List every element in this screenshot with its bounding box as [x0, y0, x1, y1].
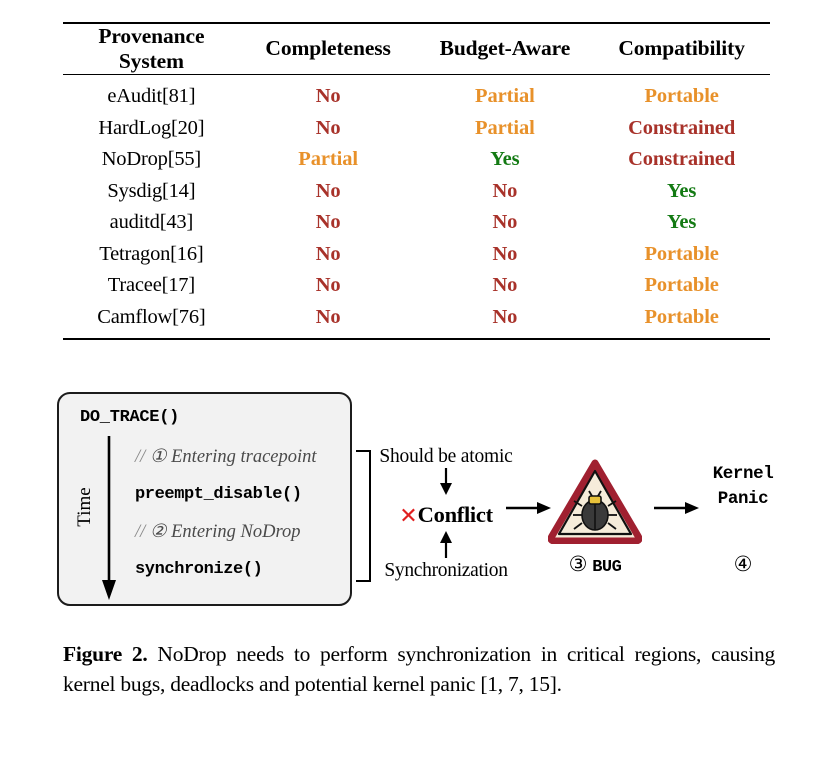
comment-text-2: // ② Entering NoDrop	[135, 522, 300, 542]
code-box: DO_TRACE() Time // ① Entering tracepoint…	[57, 392, 352, 606]
cell-compatibility: Yes	[593, 207, 770, 239]
cell-budget-aware: Partial	[417, 75, 594, 113]
cell-budget-aware: No	[417, 270, 594, 302]
x-mark-icon: ✕	[399, 504, 417, 529]
figure-label: Figure 2.	[63, 642, 148, 666]
table-header-row: Provenance System Completeness Budget-Aw…	[63, 24, 770, 74]
cell-completeness: No	[240, 270, 417, 302]
header-line-2: System	[119, 49, 184, 73]
column-header-compatibility: Compatibility	[593, 24, 770, 74]
cell-completeness: No	[240, 207, 417, 239]
column-header-budget-aware: Budget-Aware	[417, 24, 594, 74]
code-line-comment-2: // ② Entering NoDrop	[135, 521, 300, 543]
cell-completeness: No	[240, 75, 417, 113]
arrow-right-icon-conflict-to-bug	[506, 500, 552, 521]
synchronization-label: Synchronization	[372, 560, 520, 582]
cell-system: HardLog[20]	[63, 112, 240, 144]
step-marker-3: ③	[569, 552, 588, 576]
figure-caption: Figure 2. NoDrop needs to perform synchr…	[63, 640, 775, 699]
cell-compatibility: Yes	[593, 175, 770, 207]
cell-completeness: No	[240, 112, 417, 144]
table-row: Tetragon[16] No No Portable	[63, 238, 770, 270]
code-box-title: DO_TRACE()	[80, 408, 179, 427]
cell-budget-aware: No	[417, 175, 594, 207]
step-marker-4: ④	[678, 552, 808, 576]
comparison-table: Provenance System Completeness Budget-Aw…	[63, 22, 770, 340]
kernel-panic-label: Kernel Panic	[678, 462, 808, 513]
cell-completeness: No	[240, 238, 417, 270]
step-marker-1: ①	[150, 447, 167, 467]
cell-compatibility: Portable	[593, 238, 770, 270]
grouping-bracket	[356, 450, 371, 582]
table-bottom-rule	[63, 339, 770, 340]
figure-caption-text: NoDrop needs to perform synchronization …	[63, 642, 775, 696]
cell-compatibility: Constrained	[593, 112, 770, 144]
arrow-up-icon	[372, 530, 520, 563]
cell-budget-aware: No	[417, 238, 594, 270]
cell-compatibility: Portable	[593, 301, 770, 339]
table-row: NoDrop[55] Partial Yes Constrained	[63, 144, 770, 176]
conflict-label: Conflict	[418, 502, 493, 527]
cell-completeness: Partial	[240, 144, 417, 176]
table-row: Sysdig[14] No No Yes	[63, 175, 770, 207]
cell-system: Camflow[76]	[63, 301, 240, 339]
cell-budget-aware: No	[417, 207, 594, 239]
cell-system: auditd[43]	[63, 207, 240, 239]
arrow-down-icon	[372, 468, 520, 501]
comment-slashes: //	[135, 522, 145, 542]
function-call-preempt-disable: preempt_disable()	[135, 485, 302, 504]
cell-system: NoDrop[55]	[63, 144, 240, 176]
comment-body-1: Entering tracepoint	[171, 447, 316, 467]
bug-label: BUG	[592, 558, 621, 577]
code-line-call-1: preempt_disable()	[135, 483, 302, 504]
comment-body-2: Entering NoDrop	[171, 522, 300, 542]
time-axis: Time	[71, 436, 123, 602]
table-row: eAudit[81] No Partial Portable	[63, 75, 770, 113]
table-row: HardLog[20] No Partial Constrained	[63, 112, 770, 144]
figure-diagram: DO_TRACE() Time // ① Entering tracepoint…	[0, 388, 832, 618]
cell-system: Tetragon[16]	[63, 238, 240, 270]
conflict-label-row: ✕Conflict	[372, 502, 520, 529]
column-header-completeness: Completeness	[240, 24, 417, 74]
time-axis-label: Time	[74, 476, 96, 538]
cell-system: Sysdig[14]	[63, 175, 240, 207]
code-line-comment-1: // ① Entering tracepoint	[135, 446, 317, 468]
cell-compatibility: Portable	[593, 270, 770, 302]
cell-system: Tracee[17]	[63, 270, 240, 302]
warning-triangle-icon	[548, 458, 642, 544]
cell-completeness: No	[240, 301, 417, 339]
cell-budget-aware: No	[417, 301, 594, 339]
column-header-provenance-system: Provenance System	[63, 24, 240, 74]
kernel-panic-line-1: Kernel	[678, 462, 808, 487]
bug-caption: ③ BUG	[540, 552, 650, 577]
conflict-group: Should be atomic ✕Conflict Synchronizati…	[372, 446, 520, 586]
cell-completeness: No	[240, 175, 417, 207]
comment-text-1: // ① Entering tracepoint	[135, 447, 317, 467]
cell-compatibility: Portable	[593, 75, 770, 113]
table-row: Camflow[76] No No Portable	[63, 301, 770, 339]
should-be-atomic-label: Should be atomic	[372, 446, 520, 468]
kernel-panic-line-2: Panic	[678, 487, 808, 512]
function-call-synchronize: synchronize()	[135, 560, 262, 579]
table-row: Tracee[17] No No Portable	[63, 270, 770, 302]
provenance-systems-table: Provenance System Completeness Budget-Aw…	[63, 22, 770, 340]
code-line-call-2: synchronize()	[135, 558, 262, 579]
step-marker-2: ②	[150, 522, 167, 542]
cell-budget-aware: Yes	[417, 144, 594, 176]
cell-compatibility: Constrained	[593, 144, 770, 176]
cell-budget-aware: Partial	[417, 112, 594, 144]
cell-system: eAudit[81]	[63, 75, 240, 113]
comment-slashes: //	[135, 447, 145, 467]
table-row: auditd[43] No No Yes	[63, 207, 770, 239]
header-line-1: Provenance	[98, 24, 204, 48]
